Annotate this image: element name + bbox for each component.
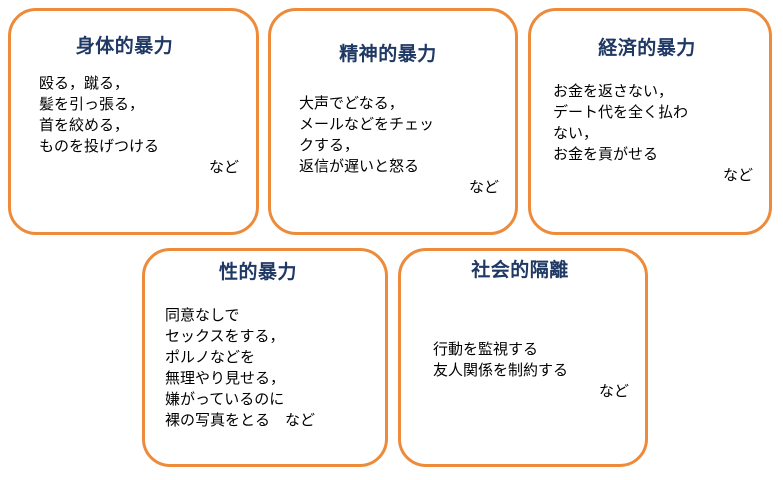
card-body-line: 同意なしで <box>165 305 375 326</box>
card-body-line: 大声でどなる， <box>299 93 499 114</box>
card-body-trailing: など <box>553 165 753 186</box>
card-body-line: 友人関係を制約する <box>433 360 629 381</box>
card-body-trailing: など <box>299 177 499 198</box>
diagram-canvas: 身体的暴力 殴る，蹴る，髪を引っ張る，首を絞める，ものを投げつけるなど 精神的暴… <box>0 0 783 480</box>
card-body-line: 無理やり見せる， <box>165 368 375 389</box>
card-body-line: デート代を全く払わ <box>553 102 753 123</box>
card-body: お金を返さない，デート代を全く払わない，お金を貢がせるなど <box>553 81 753 186</box>
card-body-line: ない， <box>553 123 753 144</box>
card-physical-violence: 身体的暴力 殴る，蹴る，髪を引っ張る，首を絞める，ものを投げつけるなど <box>8 8 259 235</box>
card-body-line: 嫌がっているのに <box>165 389 375 410</box>
card-body: 殴る，蹴る，髪を引っ張る，首を絞める，ものを投げつけるなど <box>39 73 239 178</box>
card-body-line: 返信が遅いと怒る <box>299 156 499 177</box>
card-body-line: クする， <box>299 135 499 156</box>
card-body-line: お金を貢がせる <box>553 144 753 165</box>
card-body-line: お金を返さない， <box>553 81 753 102</box>
card-economic-violence: 経済的暴力 お金を返さない，デート代を全く払わない，お金を貢がせるなど <box>528 8 772 235</box>
card-body: 行動を監視する友人関係を制約するなど <box>433 339 629 402</box>
card-title: 社会的隔離 <box>401 259 645 281</box>
card-body-trailing: など <box>433 381 629 402</box>
card-body-line: 首を絞める， <box>39 115 239 136</box>
card-title: 精神的暴力 <box>271 43 515 65</box>
card-body-line: 殴る，蹴る， <box>39 73 239 94</box>
card-body: 大声でどなる，メールなどをチェックする，返信が遅いと怒るなど <box>299 93 499 198</box>
card-mental-violence: 精神的暴力 大声でどなる，メールなどをチェックする，返信が遅いと怒るなど <box>268 8 518 235</box>
card-body: 同意なしでセックスをする，ポルノなどを無理やり見せる，嫌がっているのに裸の写真を… <box>165 305 375 431</box>
card-body-line: 髪を引っ張る， <box>39 94 239 115</box>
card-body-line: ポルノなどを <box>165 347 375 368</box>
card-body-line: 裸の写真をとる など <box>165 410 375 431</box>
card-sexual-violence: 性的暴力 同意なしでセックスをする，ポルノなどを無理やり見せる，嫌がっているのに… <box>142 248 388 467</box>
card-title: 身体的暴力 <box>11 35 256 57</box>
card-title: 経済的暴力 <box>531 37 769 59</box>
card-body-line: ものを投げつける <box>39 136 239 157</box>
card-body-line: メールなどをチェッ <box>299 114 499 135</box>
card-social-isolation: 社会的隔離 行動を監視する友人関係を制約するなど <box>398 248 648 467</box>
card-title: 性的暴力 <box>145 261 385 283</box>
card-body-line: セックスをする， <box>165 326 375 347</box>
card-body-trailing: など <box>39 157 239 178</box>
card-body-line: 行動を監視する <box>433 339 629 360</box>
